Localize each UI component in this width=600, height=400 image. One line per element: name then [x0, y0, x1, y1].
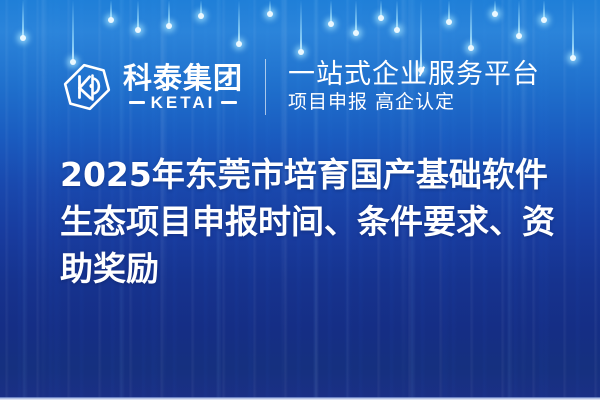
- meteor-streak-icon: [518, 0, 520, 36]
- meteor-streak-icon: [137, 0, 139, 30]
- company-latin-row: KETAI: [123, 94, 243, 111]
- dash-right-icon: [221, 101, 237, 104]
- banner-header: 科泰集团 KETAI 一站式企业服务平台 项目申报 高企认定: [0, 52, 600, 122]
- meteor-streak-icon: [448, 0, 450, 22]
- page-title: 2025年东莞市培育国产基础软件生态项目申报时间、条件要求、资助奖励: [60, 152, 572, 293]
- tagline-secondary: 项目申报 高企认定: [288, 93, 455, 113]
- meteor-streak-icon: [22, 0, 24, 38]
- meteor-streak-icon: [543, 0, 545, 20]
- meteor-streak-icon: [572, 0, 574, 58]
- meteor-streak-icon: [355, 0, 357, 33]
- meteor-streak-icon: [168, 0, 170, 26]
- title-block: 2025年东莞市培育国产基础软件生态项目申报时间、条件要求、资助奖励: [60, 152, 572, 293]
- meteor-streak-icon: [200, 0, 202, 16]
- brand-wordmark: 科泰集团 KETAI: [123, 64, 243, 111]
- meteor-streak-icon: [380, 0, 382, 18]
- meteor-streak-icon: [300, 0, 302, 52]
- ketai-diamond-k-logo-icon: [60, 60, 114, 114]
- brand-logo[interactable]: 科泰集团 KETAI: [60, 60, 243, 114]
- vertical-divider-icon: [265, 59, 266, 115]
- company-name: 科泰集团: [123, 64, 243, 93]
- meteor-streak-icon: [396, 0, 398, 30]
- promo-banner: 科泰集团 KETAI 一站式企业服务平台 项目申报 高企认定 2025年东莞市培…: [0, 0, 600, 400]
- meteor-streak-icon: [494, 0, 496, 14]
- brand-tagline: 一站式企业服务平台 项目申报 高企认定: [288, 61, 540, 112]
- meteor-streak-icon: [330, 0, 332, 24]
- meteor-streak-icon: [110, 0, 112, 20]
- meteor-streak-icon: [470, 0, 472, 48]
- meteor-streak-icon: [269, 0, 271, 14]
- meteor-streak-icon: [238, 0, 240, 44]
- company-latin-name: KETAI: [151, 94, 216, 111]
- tagline-primary: 一站式企业服务平台: [288, 61, 540, 89]
- dash-left-icon: [129, 101, 145, 104]
